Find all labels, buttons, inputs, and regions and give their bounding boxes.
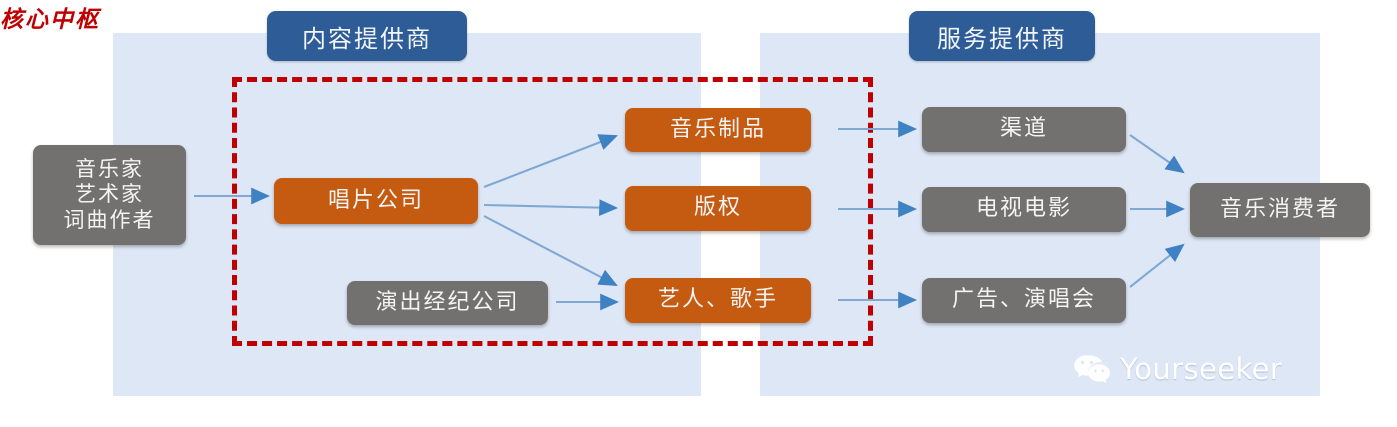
node-creators[interactable]: 音乐家 艺术家 词曲作者: [33, 145, 186, 245]
node-creators-line-2: 艺术家: [75, 182, 144, 208]
wechat-icon: [1073, 354, 1111, 384]
node-channel[interactable]: 渠道: [922, 107, 1126, 152]
node-artists-singers[interactable]: 艺人、歌手: [625, 278, 811, 323]
node-copyright[interactable]: 版权: [625, 186, 811, 231]
group-title-service-provider: 服务提供商: [909, 11, 1095, 61]
node-music-products[interactable]: 音乐制品: [625, 108, 811, 152]
node-music-consumers[interactable]: 音乐消费者: [1190, 183, 1370, 237]
diagram-canvas: 内容提供商 服务提供商 音乐家 艺术家 词曲作者 核心中枢 唱片公司 演出经: [0, 0, 1397, 427]
watermark: Yourseeker: [1073, 352, 1282, 386]
watermark-text: Yourseeker: [1120, 352, 1282, 386]
node-creators-line-1: 音乐家: [75, 157, 144, 183]
node-creators-line-3: 词曲作者: [64, 208, 156, 234]
group-title-content-provider: 内容提供商: [267, 11, 467, 61]
core-hub-annotation-label: 核心中枢: [0, 0, 1397, 34]
node-record-company[interactable]: 唱片公司: [274, 178, 478, 224]
node-performance-agency[interactable]: 演出经纪公司: [347, 281, 548, 325]
node-ads-concerts[interactable]: 广告、演唱会: [922, 278, 1126, 323]
node-tv-film[interactable]: 电视电影: [922, 187, 1126, 232]
